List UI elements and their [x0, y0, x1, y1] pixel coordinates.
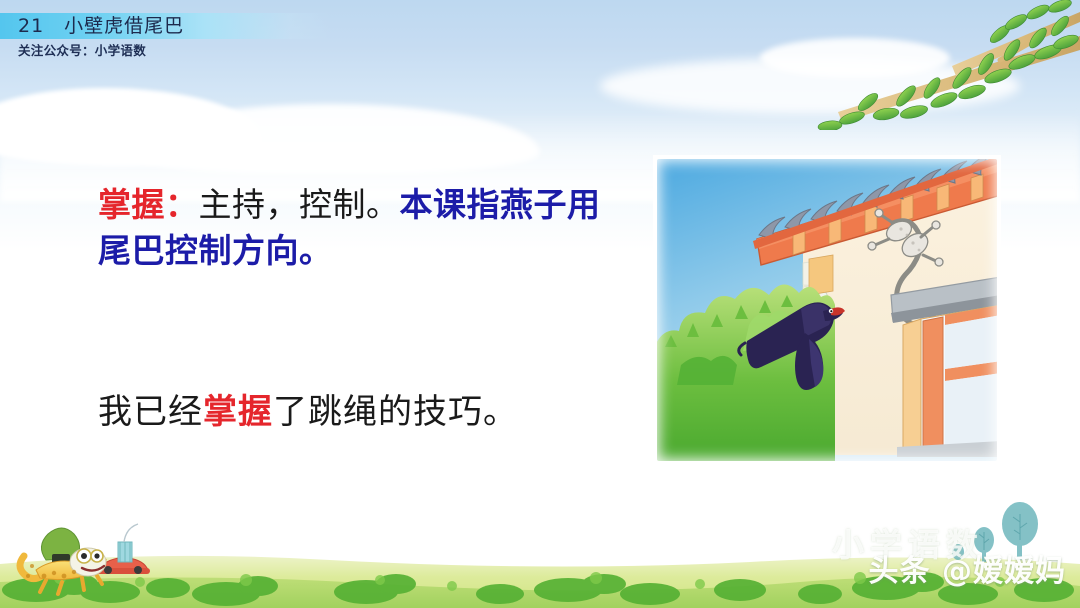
decorative-trees-icon [950, 502, 1060, 562]
page-title: 21 小壁虎借尾巴 [18, 13, 184, 39]
tree-branch-icon [700, 0, 1080, 130]
lesson-illustration [653, 155, 1001, 465]
definition-keyword: 掌握： [98, 185, 199, 224]
example-keyword: 掌握 [203, 392, 273, 432]
example-suffix: 了跳绳的技巧。 [273, 392, 518, 432]
illustration-svg [653, 155, 1001, 465]
gecko-mascot-icon [14, 518, 164, 598]
definition-meaning: 主持，控制。 [199, 185, 400, 224]
definition-block: 掌握：主持，控制。本课指燕子用尾巴控制方向。 [98, 182, 608, 274]
slide-canvas: 21 小壁虎借尾巴 关注公众号：小学语数 掌握：主持，控制。本课指燕子用尾巴控制… [0, 0, 1080, 608]
subtitle-follow-account: 关注公众号：小学语数 [18, 40, 146, 59]
example-prefix: 我已经 [98, 392, 203, 432]
example-sentence: 我已经掌握了跳绳的技巧。 [98, 390, 638, 434]
